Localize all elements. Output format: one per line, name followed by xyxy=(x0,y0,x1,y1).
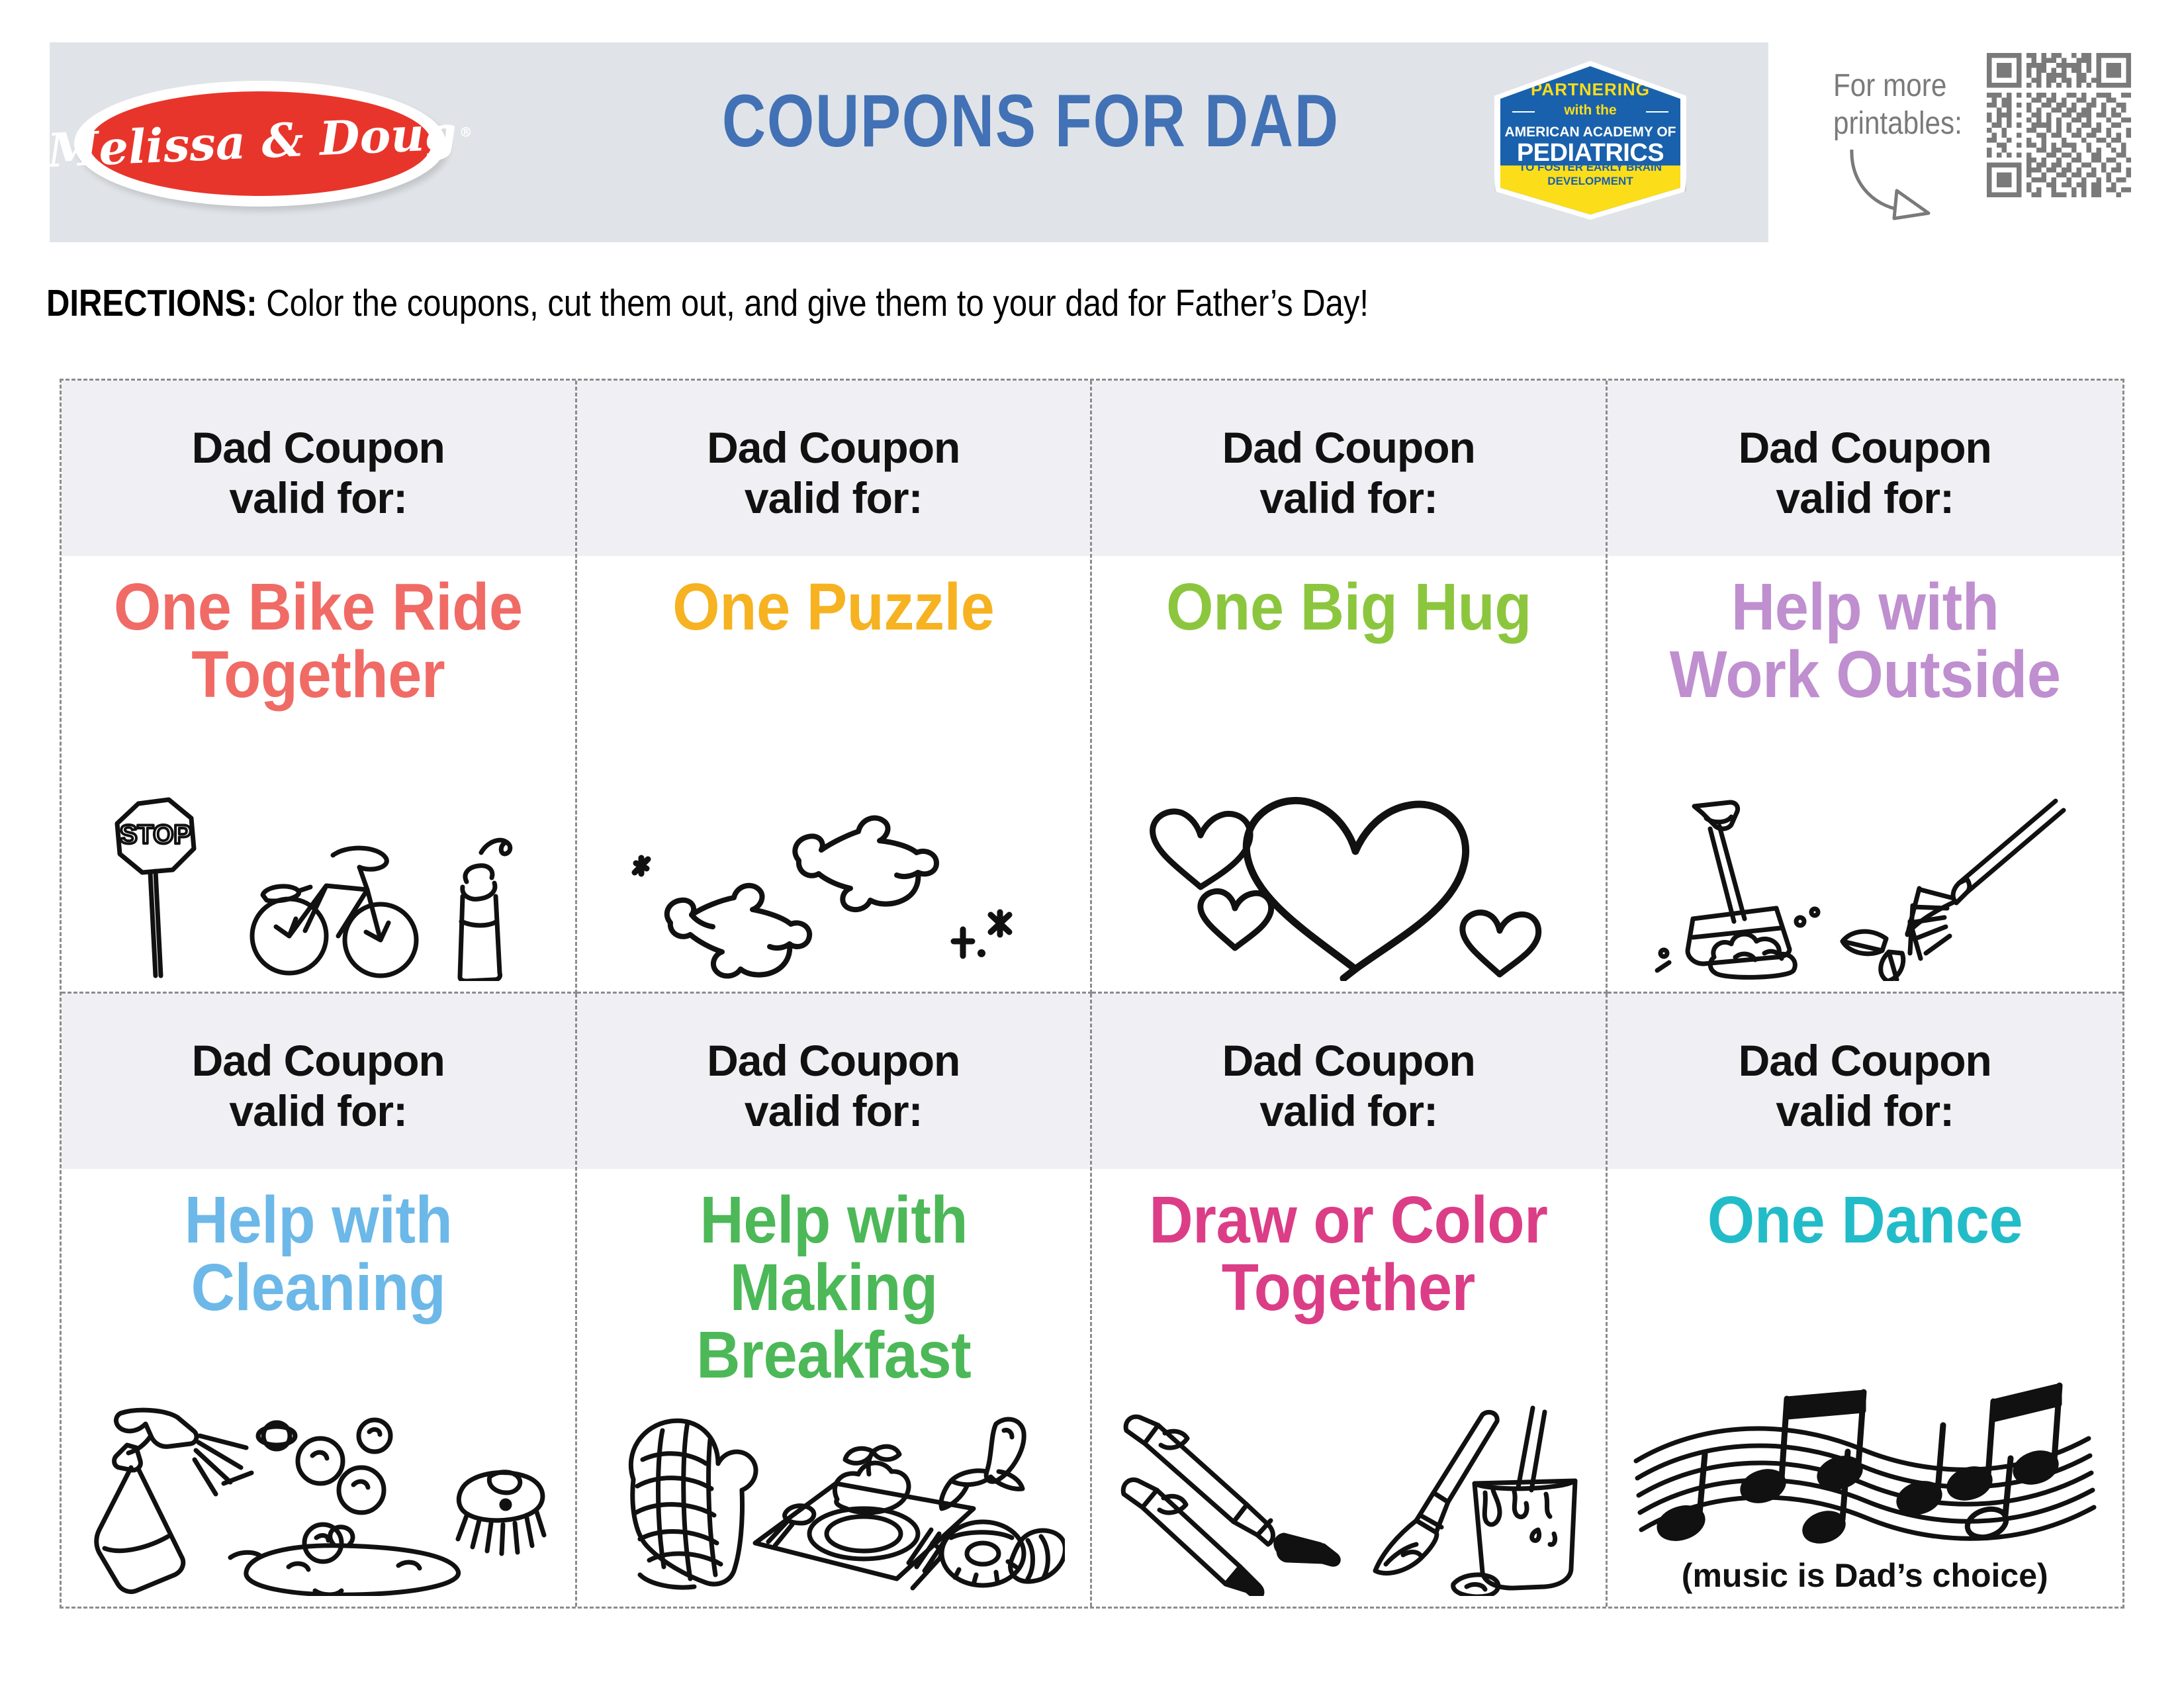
coupon-header-line-1: Dad Coupon xyxy=(192,1036,445,1086)
hearts-illustration xyxy=(1092,776,1606,981)
logo-wordmark: Melissa & Doug® xyxy=(71,70,449,212)
coupon-title-line: One Dance xyxy=(1707,1186,2022,1254)
coupon-title-line: Together xyxy=(114,641,523,708)
coupon-title: One Bike Ride Together xyxy=(108,573,529,708)
coupon-header-line-2: valid for: xyxy=(1259,1086,1437,1136)
printable-page: Melissa & Doug® COUPONS FOR DAD PARTNERI… xyxy=(0,0,2184,1688)
coupon-header: Dad Coupon valid for: xyxy=(62,381,575,556)
coupon-header-line-2: valid for: xyxy=(229,1086,407,1136)
music-notes-illustration xyxy=(1608,1374,2123,1546)
printables-line-1: For more xyxy=(1833,68,1967,105)
coupon-title-line: One Bike Ride xyxy=(114,573,523,641)
coupon-header-line-1: Dad Coupon xyxy=(707,423,960,473)
coupon-title: One Puzzle xyxy=(666,573,1001,641)
aap-partner-badge: PARTNERING with the AMERICAN ACADEMY OF … xyxy=(1494,61,1686,220)
coupon-header: Dad Coupon valid for: xyxy=(577,994,1091,1169)
coupon-header: Dad Coupon valid for: xyxy=(62,994,575,1169)
coupon-card[interactable]: Dad Coupon valid for: One Dance xyxy=(1608,994,2123,1607)
printables-label: For more printables: xyxy=(1833,68,1967,142)
coupon-body: One Puzzle xyxy=(577,556,1091,992)
yard-work-illustration xyxy=(1608,776,2123,981)
art-supplies-illustration xyxy=(1092,1391,1606,1596)
coupon-card[interactable]: Dad Coupon valid for: Help with Work Out… xyxy=(1608,381,2123,994)
svg-text:STOP: STOP xyxy=(120,820,191,849)
coupon-title-line: Help with xyxy=(604,1186,1064,1254)
coupon-card[interactable]: Dad Coupon valid for: One Big Hug xyxy=(1092,381,1608,994)
breakfast-illustration xyxy=(577,1391,1091,1596)
coupon-header-line-2: valid for: xyxy=(1259,473,1437,523)
coupon-card[interactable]: Dad Coupon valid for: Help with Making B… xyxy=(577,994,1093,1607)
badge-foster-text: TO FOSTER EARLY BRAIN DEVELOPMENT xyxy=(1500,160,1680,189)
coupon-header: Dad Coupon valid for: xyxy=(1608,994,2123,1169)
coupon-title: Help with Cleaning xyxy=(178,1186,458,1321)
qr-code-icon xyxy=(1987,53,2131,197)
coupon-title-line: Cleaning xyxy=(184,1254,452,1321)
coupon-header: Dad Coupon valid for: xyxy=(1608,381,2123,556)
coupon-note: (music is Dad’s choice) xyxy=(1608,1556,2123,1595)
page-title: COUPONS FOR DAD xyxy=(722,78,1270,164)
coupon-title: Help with Work Outside xyxy=(1663,573,2066,708)
coupon-title: One Big Hug xyxy=(1160,573,1537,641)
coupon-header-line-2: valid for: xyxy=(229,473,407,523)
coupon-header-line-2: valid for: xyxy=(745,1086,923,1136)
directions-line: DIRECTIONS: Color the coupons, cut them … xyxy=(46,281,1369,325)
badge-with-the-text: with the xyxy=(1500,103,1680,118)
coupon-card[interactable]: Dad Coupon valid for: Draw or Color Toge… xyxy=(1092,994,1608,1607)
melissa-and-doug-logo: Melissa & Doug® xyxy=(74,81,446,207)
badge-academy-text: AMERICAN ACADEMY OF xyxy=(1500,124,1680,140)
coupon-title: Draw or Color Together xyxy=(1143,1186,1554,1321)
coupon-body: Help with Cleaning xyxy=(62,1169,575,1607)
logo-brand-text: Melissa & Doug xyxy=(46,105,458,178)
coupon-card[interactable]: Dad Coupon valid for: One Bike Ride Toge… xyxy=(62,381,577,994)
coupon-body: One Bike Ride Together STOP xyxy=(62,556,575,992)
coupon-title: Help with Making Breakfast xyxy=(598,1186,1069,1389)
coupon-header-line-1: Dad Coupon xyxy=(707,1036,960,1086)
coupon-title-line: Help with xyxy=(184,1186,452,1254)
coupon-body: Help with Work Outside xyxy=(1608,556,2123,992)
coupon-body: Help with Making Breakfast xyxy=(577,1169,1091,1607)
coupon-grid: Dad Coupon valid for: One Bike Ride Toge… xyxy=(60,379,2124,1609)
badge-partnering-text: PARTNERING xyxy=(1500,79,1680,100)
coupon-header-line-1: Dad Coupon xyxy=(1222,423,1475,473)
coupon-header-line-2: valid for: xyxy=(1776,473,1954,523)
coupon-title-line: Making Breakfast xyxy=(604,1254,1064,1389)
directions-label: DIRECTIONS: xyxy=(46,282,257,324)
registered-mark-icon: ® xyxy=(459,124,473,140)
coupon-title-line: One Big Hug xyxy=(1166,573,1531,641)
coupon-body: One Dance xyxy=(1608,1169,2123,1607)
coupon-header-line-1: Dad Coupon xyxy=(1222,1036,1475,1086)
coupon-title-line: Work Outside xyxy=(1669,641,2060,708)
coupon-header-line-1: Dad Coupon xyxy=(192,423,445,473)
coupon-title-line: Together xyxy=(1150,1254,1548,1321)
coupon-title-line: Help with xyxy=(1669,573,2060,641)
printables-line-2: printables: xyxy=(1833,105,1967,143)
coupon-header-line-1: Dad Coupon xyxy=(1739,1036,1991,1086)
cleaning-illustration xyxy=(62,1391,575,1596)
coupon-header-line-1: Dad Coupon xyxy=(1739,423,1991,473)
coupon-header: Dad Coupon valid for: xyxy=(1092,381,1606,556)
coupon-header-line-2: valid for: xyxy=(745,473,923,523)
coupon-card[interactable]: Dad Coupon valid for: One Puzzle xyxy=(577,381,1093,994)
coupon-title: One Dance xyxy=(1701,1186,2028,1254)
coupon-body: Draw or Color Together xyxy=(1092,1169,1606,1607)
coupon-header: Dad Coupon valid for: xyxy=(1092,994,1606,1169)
coupon-header: Dad Coupon valid for: xyxy=(577,381,1091,556)
puzzle-illustration xyxy=(577,776,1091,981)
coupon-header-line-2: valid for: xyxy=(1776,1086,1954,1136)
coupon-title-line: One Puzzle xyxy=(672,573,994,641)
coupon-body: One Big Hug xyxy=(1092,556,1606,992)
bike-ride-illustration: STOP xyxy=(62,776,575,981)
coupon-card[interactable]: Dad Coupon valid for: Help with Cleaning xyxy=(62,994,577,1607)
directions-text: Color the coupons, cut them out, and giv… xyxy=(257,282,1369,324)
curved-arrow-icon xyxy=(1846,144,1939,224)
coupon-title-line: Draw or Color xyxy=(1150,1186,1548,1254)
